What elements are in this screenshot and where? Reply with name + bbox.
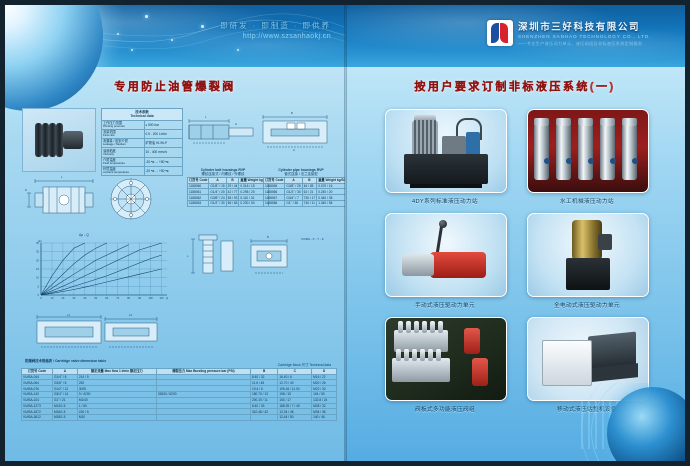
svg-text:20: 20: [36, 258, 39, 262]
valve-cartridge: [414, 321, 419, 333]
dim-table-2: 订货号 CodeAB重量 Weight kg/St1188065G3/8" / …: [263, 177, 345, 207]
svg-text:G: G: [235, 122, 237, 126]
table-cell: G1" / 36: [285, 200, 302, 206]
chart-note: Δp - Q: [79, 233, 89, 237]
company-name-cn: 深圳市三好科技有限公司: [518, 19, 651, 33]
spec-caption-en: Technical data: [102, 114, 182, 118]
valve-cross-section-drawing: B: [241, 233, 297, 285]
spec-row: 工作压力范围Working pressure≤ 500 bar: [102, 120, 183, 129]
product-caption-4: 全电动式液压驱动力单元: [527, 301, 647, 309]
svg-text:10: 10: [36, 276, 39, 280]
company-logo: 深圳市三好科技有限公司 SHENZHEN SANHAO TECHNOLOGY C…: [487, 19, 651, 47]
product-image-3: [385, 213, 507, 297]
svg-text:40: 40: [83, 296, 86, 300]
slogan-line-1: 即研发 · 即制造 · 即供养: [220, 21, 331, 32]
spec-label: 介质温度Fluid temperature: [102, 157, 145, 166]
product-caption-3: 手动式液压驱动力单元: [385, 301, 505, 309]
header-slogan: 即研发 · 即制造 · 即供养 http://www.szsanhaokj.cn: [220, 21, 331, 42]
svg-text:L: L: [61, 175, 63, 179]
table-cell: G1/2" / 30: [209, 200, 226, 206]
spec-table-wrap: 技术参数 Technical data 工作压力范围Working pressu…: [101, 108, 183, 176]
right-header-band: 深圳市三好科技有限公司 SHENZHEN SANHAO TECHNOLOGY C…: [345, 5, 685, 67]
table-cell: 1188068: [264, 200, 285, 206]
dim-table-1: 订货号 CodeAB重量 Weight kg/St1188060G1/8" / …: [187, 177, 269, 207]
svg-text:90: 90: [138, 296, 141, 300]
valve-cartridge: [406, 321, 411, 333]
assembly-drawing-section: [105, 173, 157, 229]
spec-row: 流量范围Flow rate0.5 - 200 L/min: [102, 129, 183, 138]
spec-value: 0.5 - 200 L/min: [144, 129, 183, 138]
product-image-2: [527, 109, 649, 193]
svg-text:70: 70: [116, 296, 119, 300]
table-cell: M10: [77, 415, 156, 421]
spec-row: 油液粘度Viscosity10 - 400 mm²/s: [102, 148, 183, 157]
svg-text:B: B: [291, 111, 293, 115]
cylinder-cap: [534, 118, 549, 126]
cylinder-port: [588, 158, 594, 164]
assembly-drawing-front: L D: [25, 173, 103, 229]
valve-cartridge: [404, 349, 409, 361]
product-caption-1: 4DY系列标准液压动力站: [385, 197, 505, 205]
valve-cartridge: [428, 349, 433, 361]
header-dot: [145, 15, 148, 18]
page-gutter: [344, 5, 347, 461]
svg-text:10: 10: [51, 296, 54, 300]
red-cylinder: [464, 328, 480, 354]
page-spread: 即研发 · 即制造 · 即供养 http://www.szsanhaokj.cn…: [5, 5, 685, 461]
slogan-line-2: http://www.szsanhaokj.cn: [220, 32, 331, 42]
table-row: 1188068G1" / 36740 / 111.340 / 55: [264, 200, 346, 206]
spec-value: 10 - 400 mm²/s: [144, 148, 183, 157]
product-card-4: 全电动式液压驱动力单元: [527, 213, 647, 309]
company-name-en: SHENZHEN SANHAO TECHNOLOGY CO., LTD.: [518, 34, 651, 39]
table-row: VU/BA-3612M18/1.5M1012.44 / 50140 / 46: [22, 415, 337, 421]
product-card-5: 阀板式多功能液压阀组: [385, 317, 505, 413]
cylinder-port: [610, 158, 616, 164]
dim-table-1-wrap: Cylinder bolt housings RVP 螺纹连接式 / 内螺纹 /…: [187, 168, 259, 207]
product-card-3: 手动式液压驱动力单元: [385, 213, 505, 309]
valve-cartridge: [420, 349, 425, 361]
valve-cartridge: [436, 349, 441, 361]
product-image-5: [385, 317, 507, 401]
product-card-1: 4DY系列标准液压动力站: [385, 109, 505, 205]
valve-photo: [22, 108, 96, 172]
product-caption-2: 水工机械液压动力站: [527, 197, 647, 205]
table-cell: 12.44 / 50: [278, 415, 312, 421]
red-cylinder: [472, 358, 488, 386]
spec-value: 矿物油 HL/HLP: [144, 139, 183, 148]
svg-text:0: 0: [40, 296, 42, 300]
cylinder-port: [566, 158, 572, 164]
spec-label: 工作压力范围Working pressure: [102, 120, 145, 129]
valve-cartridge: [438, 321, 443, 333]
table-cell: M18/1.5: [52, 415, 77, 421]
cylinder-cap: [556, 118, 571, 126]
header-dot: [131, 49, 133, 51]
svg-text:100: 100: [148, 296, 153, 300]
svg-text:5: 5: [38, 284, 40, 288]
svg-text:20: 20: [61, 296, 64, 300]
svg-text:D: D: [25, 188, 27, 192]
svg-text:60: 60: [105, 296, 108, 300]
valve-cartridge: [412, 349, 417, 361]
right-page-title: 按用户要求订制非标液压系统(一): [414, 78, 615, 94]
hydraulic-cylinder: [556, 124, 571, 180]
chart-canvas: 0510152025300102030405060708090100110ΔpQ: [27, 237, 175, 309]
svg-text:L: L: [187, 254, 189, 258]
cylinder-cap: [578, 118, 593, 126]
valve-cartridge: [422, 321, 427, 333]
globe-decoration-icon: [581, 383, 685, 461]
svg-text:80: 80: [127, 296, 130, 300]
table-cell: [251, 415, 278, 421]
cylinder-cap: [622, 118, 637, 126]
ordering-code-text: VU/BA - X - Y - K: [301, 237, 324, 241]
table-cell: VU/BA-3612: [22, 415, 53, 421]
hydraulic-cylinder: [578, 124, 593, 180]
company-tagline: ——专业生产液压动力单元、液压阀组及非标液压系统定制服务: [518, 41, 651, 47]
spec-label: 流量范围Flow rate: [102, 129, 145, 138]
company-name-block: 深圳市三好科技有限公司 SHENZHEN SANHAO TECHNOLOGY C…: [518, 19, 651, 47]
installation-drawing: L1 L2: [25, 313, 175, 355]
table-cell: 65 / 83: [226, 200, 239, 206]
spec-row: 泄漏量 / 密封介质Leakage / Medium矿物油 HL/HLP: [102, 139, 183, 148]
bottom-table: 订货号 CodeA额定流量 Max flow 1 l/min 额定压力爆裂压力 …: [21, 368, 337, 421]
cylinder-port: [632, 158, 638, 164]
section-drawing-a: L G: [187, 105, 257, 163]
cylinder-port: [544, 158, 550, 164]
header-dot: [237, 49, 239, 51]
svg-text:Q: Q: [166, 296, 169, 300]
spec-label: 泄漏量 / 密封介质Leakage / Medium: [102, 139, 145, 148]
spec-table-caption: 技术参数 Technical data: [101, 108, 183, 120]
product-image-1: [385, 109, 507, 193]
valve-illustration-icon: [33, 119, 85, 161]
svg-text:25: 25: [36, 250, 39, 254]
cylinder-cap: [600, 118, 615, 126]
valve-cartridge: [398, 321, 403, 333]
dim-table-2-wrap: Cylinder pipe housings RVP 管式连接 / 法兰连接型 …: [263, 168, 339, 207]
svg-text:30: 30: [72, 296, 75, 300]
header-dot: [171, 39, 173, 41]
spec-value: -20 ℃ ... +80 ℃: [144, 157, 183, 166]
svg-text:A: A: [293, 148, 295, 152]
table-cell: 1188063: [188, 200, 209, 206]
spec-table: 工作压力范围Working pressure≤ 500 bar流量范围Flow …: [101, 120, 183, 177]
bottom-table-wrap: 防爆阀技术规格表 / Cartridge valve dimension tab…: [21, 359, 337, 421]
svg-text:L1: L1: [67, 313, 70, 317]
left-page: 即研发 · 即制造 · 即供养 http://www.szsanhaokj.cn…: [5, 5, 345, 461]
hydraulic-cylinder: [534, 124, 549, 180]
product-caption-5: 阀板式多功能液压阀组: [385, 405, 505, 413]
bolt-drawing: L: [185, 233, 241, 285]
sanhao-logo-icon: [487, 20, 513, 46]
left-page-title: 专用防止油管爆裂阀: [114, 78, 236, 94]
table-row: 1188063G1/2" / 3065 / 830.230 / 50: [188, 200, 269, 206]
header-dot: [201, 25, 204, 28]
svg-text:L: L: [205, 115, 207, 119]
spec-label: 油液粘度Viscosity: [102, 148, 145, 157]
ordering-code-note: VU/BA - X - Y - K: [301, 237, 341, 241]
svg-text:15: 15: [36, 267, 39, 271]
hydraulic-cylinder: [600, 124, 615, 180]
svg-text:L2: L2: [129, 313, 132, 317]
table-cell: 140 / 46: [312, 415, 337, 421]
svg-text:0: 0: [38, 293, 40, 297]
hydraulic-cylinder: [622, 124, 637, 180]
catalog-spread-screenshot: 即研发 · 即制造 · 即供养 http://www.szsanhaokj.cn…: [0, 0, 690, 466]
left-page-title-wrap: 专用防止油管爆裂阀: [5, 77, 345, 95]
pressure-loss-chart: Δp - Q 051015202530010203040506070809010…: [27, 237, 175, 309]
svg-text:Δp: Δp: [38, 239, 42, 243]
right-page-title-wrap: 按用户要求订制非标液压系统(一): [345, 77, 685, 95]
table-cell: 740 / 11: [302, 200, 317, 206]
section-drawing-b: B A: [257, 105, 341, 163]
valve-manifold-block: [392, 358, 450, 382]
table-cell: 1.340 / 55: [317, 200, 345, 206]
right-page: 深圳市三好科技有限公司 SHENZHEN SANHAO TECHNOLOGY C…: [345, 5, 685, 461]
svg-text:110: 110: [159, 296, 164, 300]
spec-row: 介质温度Fluid temperature-20 ℃ ... +80 ℃: [102, 157, 183, 166]
valve-cartridge: [396, 349, 401, 361]
svg-text:50: 50: [94, 296, 97, 300]
spec-value: ≤ 500 bar: [144, 120, 183, 129]
table-cell: [156, 415, 250, 421]
valve-cartridge: [430, 321, 435, 333]
product-card-2: 水工机械液压动力站: [527, 109, 647, 205]
svg-text:B: B: [267, 235, 269, 239]
product-image-4: [527, 213, 649, 297]
